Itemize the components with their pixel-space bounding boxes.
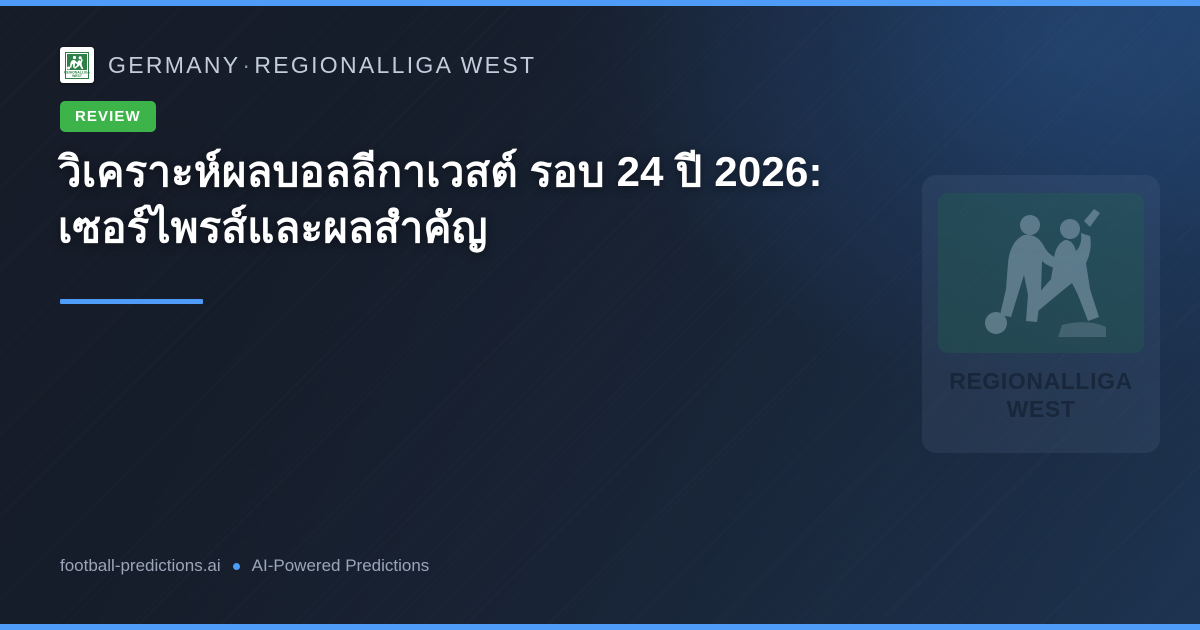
footer: football-predictions.ai AI-Powered Predi… (60, 556, 429, 576)
blue-dot-separator-icon (233, 563, 240, 570)
watermark-caption-line2: WEST (949, 395, 1133, 423)
footer-site-label: football-predictions.ai (60, 556, 221, 576)
regionalliga-west-crest-icon: REGIONALLIGA WEST (60, 47, 94, 83)
svg-text:WEST: WEST (72, 74, 83, 78)
league-label: REGIONALLIGA WEST (254, 52, 536, 78)
bottom-accent-bar (0, 624, 1200, 630)
watermark-league-crest: REGIONALLIGA WEST (922, 175, 1160, 453)
watermark-caption: REGIONALLIGA WEST (949, 367, 1133, 423)
title-accent-underline (60, 299, 203, 304)
league-breadcrumb: REGIONALLIGA WEST GERMANY·REGIONALLIGA W… (60, 47, 536, 83)
watermark-caption-line1: REGIONALLIGA (949, 367, 1133, 395)
page-title: วิเคราะห์ผลบอลลีกาเวสต์ รอบ 24 ปี 2026: … (58, 144, 938, 256)
two-football-players-silhouette-icon (966, 203, 1116, 343)
watermark-crest-field (938, 193, 1144, 353)
crest-graphic: REGIONALLIGA WEST (64, 51, 90, 80)
breadcrumb-separator: · (240, 52, 254, 78)
social-card-canvas: REGIONALLIGA WEST REGIONALLIGA WEST G (0, 0, 1200, 630)
top-accent-bar (0, 0, 1200, 6)
league-breadcrumb-text: GERMANY·REGIONALLIGA WEST (108, 52, 536, 79)
footer-tagline-label: AI-Powered Predictions (252, 556, 430, 576)
country-label: GERMANY (108, 52, 240, 78)
status-badge-review: REVIEW (60, 101, 156, 132)
